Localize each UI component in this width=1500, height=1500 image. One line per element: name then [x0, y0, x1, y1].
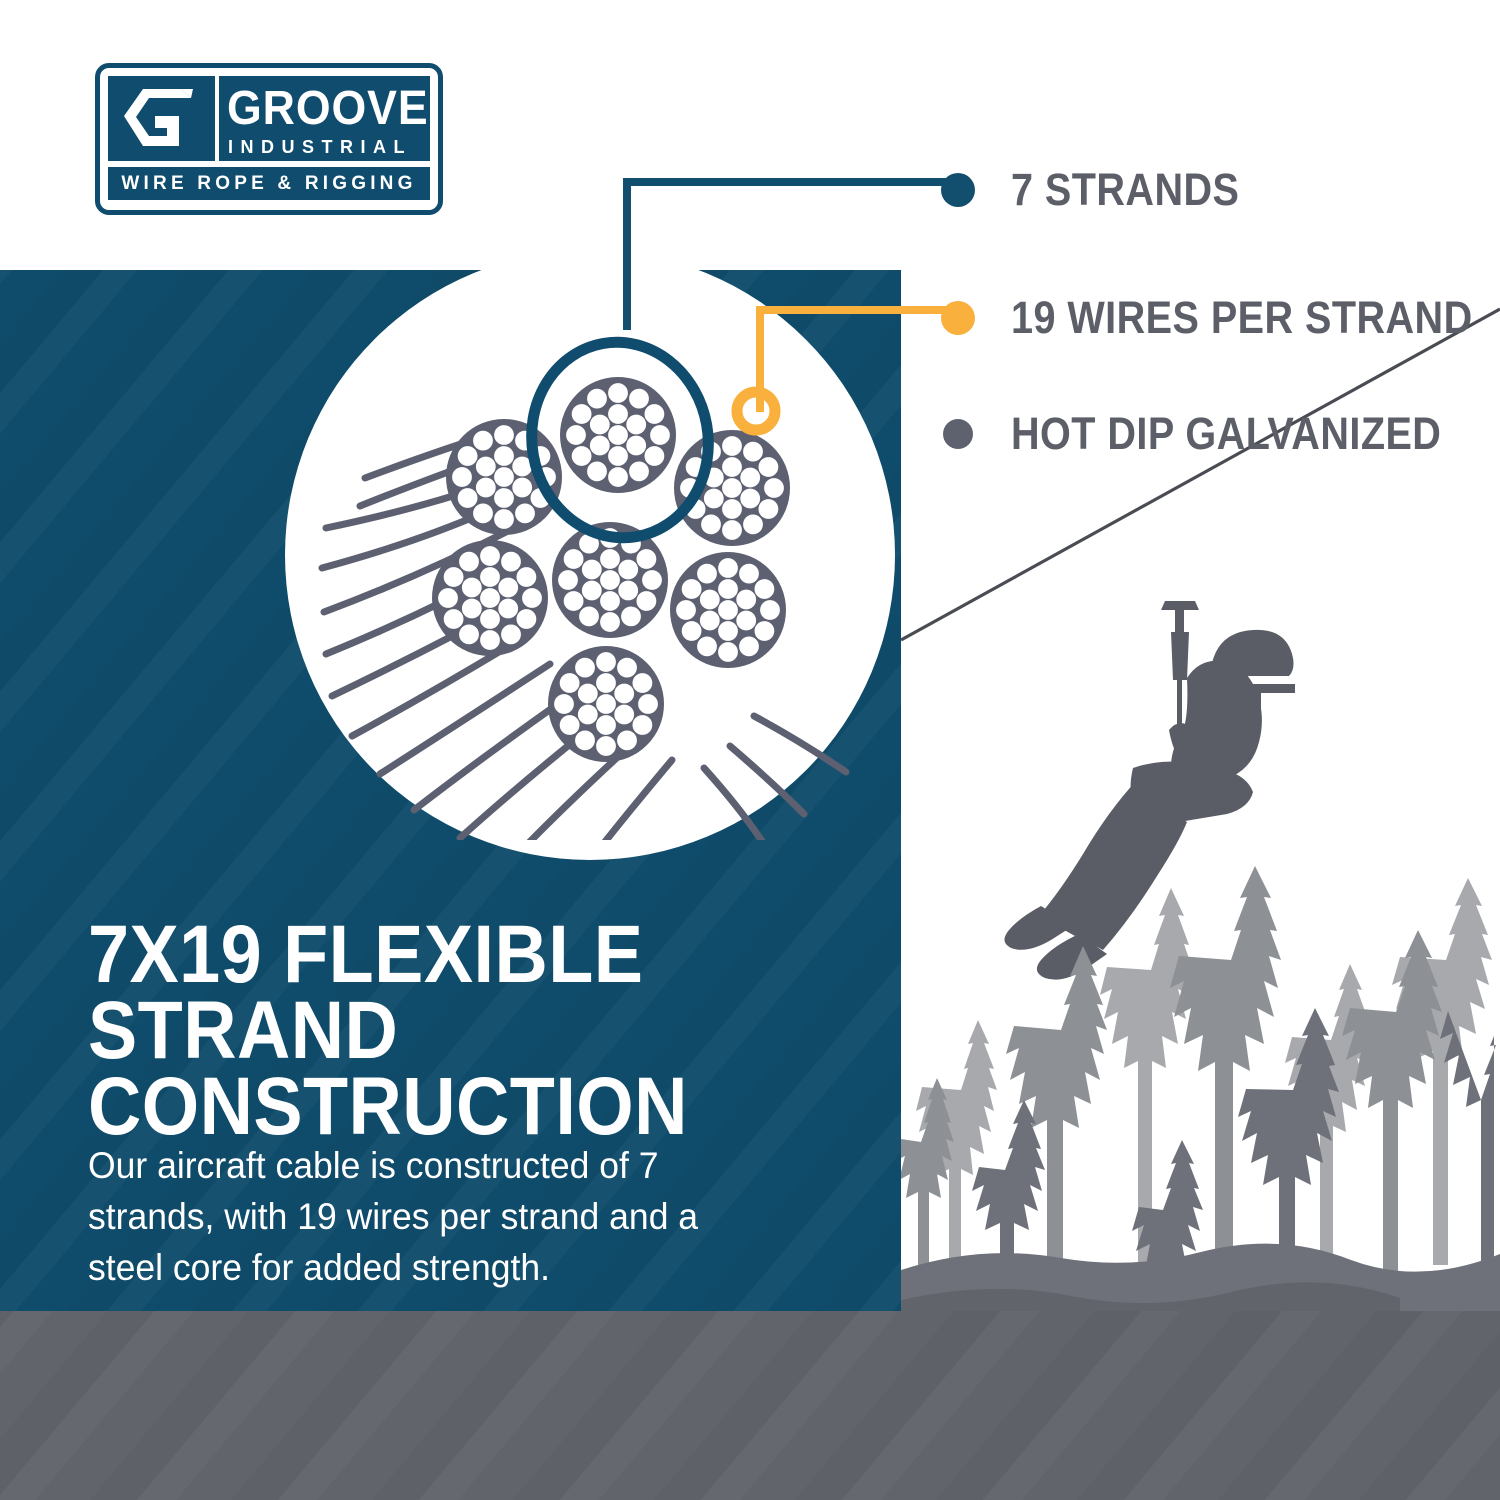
page-title: 7X19 FLEXIBLE STRAND CONSTRUCTION [88, 917, 799, 1145]
callout-strands: 7 STRANDS [941, 164, 1271, 216]
callout-wires: 19 WIRES PER STRAND [941, 292, 1500, 344]
strand-callout-dot-icon [941, 173, 975, 207]
infographic-canvas: GROOVE INDUSTRIAL WIRE ROPE & RIGGING 7 … [0, 0, 1500, 1500]
frayed-wires-right [704, 716, 846, 840]
brand-logo[interactable]: GROOVE INDUSTRIAL WIRE ROPE & RIGGING [95, 63, 443, 215]
callout-galvanized: HOT DIP GALVANIZED [943, 408, 1500, 460]
callout-label-galvanized: HOT DIP GALVANIZED [1011, 408, 1441, 460]
wire-rope-svg [300, 280, 920, 840]
logo-wordmark: GROOVE [227, 80, 413, 138]
callout-label-wires: 19 WIRES PER STRAND [1011, 292, 1473, 344]
single-wire-marker-icon [737, 392, 775, 430]
page-title-line2: STRAND CONSTRUCTION [88, 993, 799, 1145]
wire-callout-dot-icon [941, 301, 975, 335]
description-text: Our aircraft cable is constructed of 7 s… [88, 1140, 750, 1293]
wire-rope-illustration [300, 280, 920, 840]
logo-subword: INDUSTRIAL [228, 137, 428, 158]
logo-divider [215, 76, 219, 161]
diagonal-stripe-texture-gray [0, 1311, 1500, 1500]
galvanized-callout-dot-icon [943, 419, 973, 449]
bottom-gray-band [0, 1311, 1500, 1500]
callout-label-strands: 7 STRANDS [1011, 164, 1239, 216]
groove-g-monogram-icon [121, 84, 201, 154]
logo-tagline: WIRE ROPE & RIGGING [108, 167, 430, 200]
